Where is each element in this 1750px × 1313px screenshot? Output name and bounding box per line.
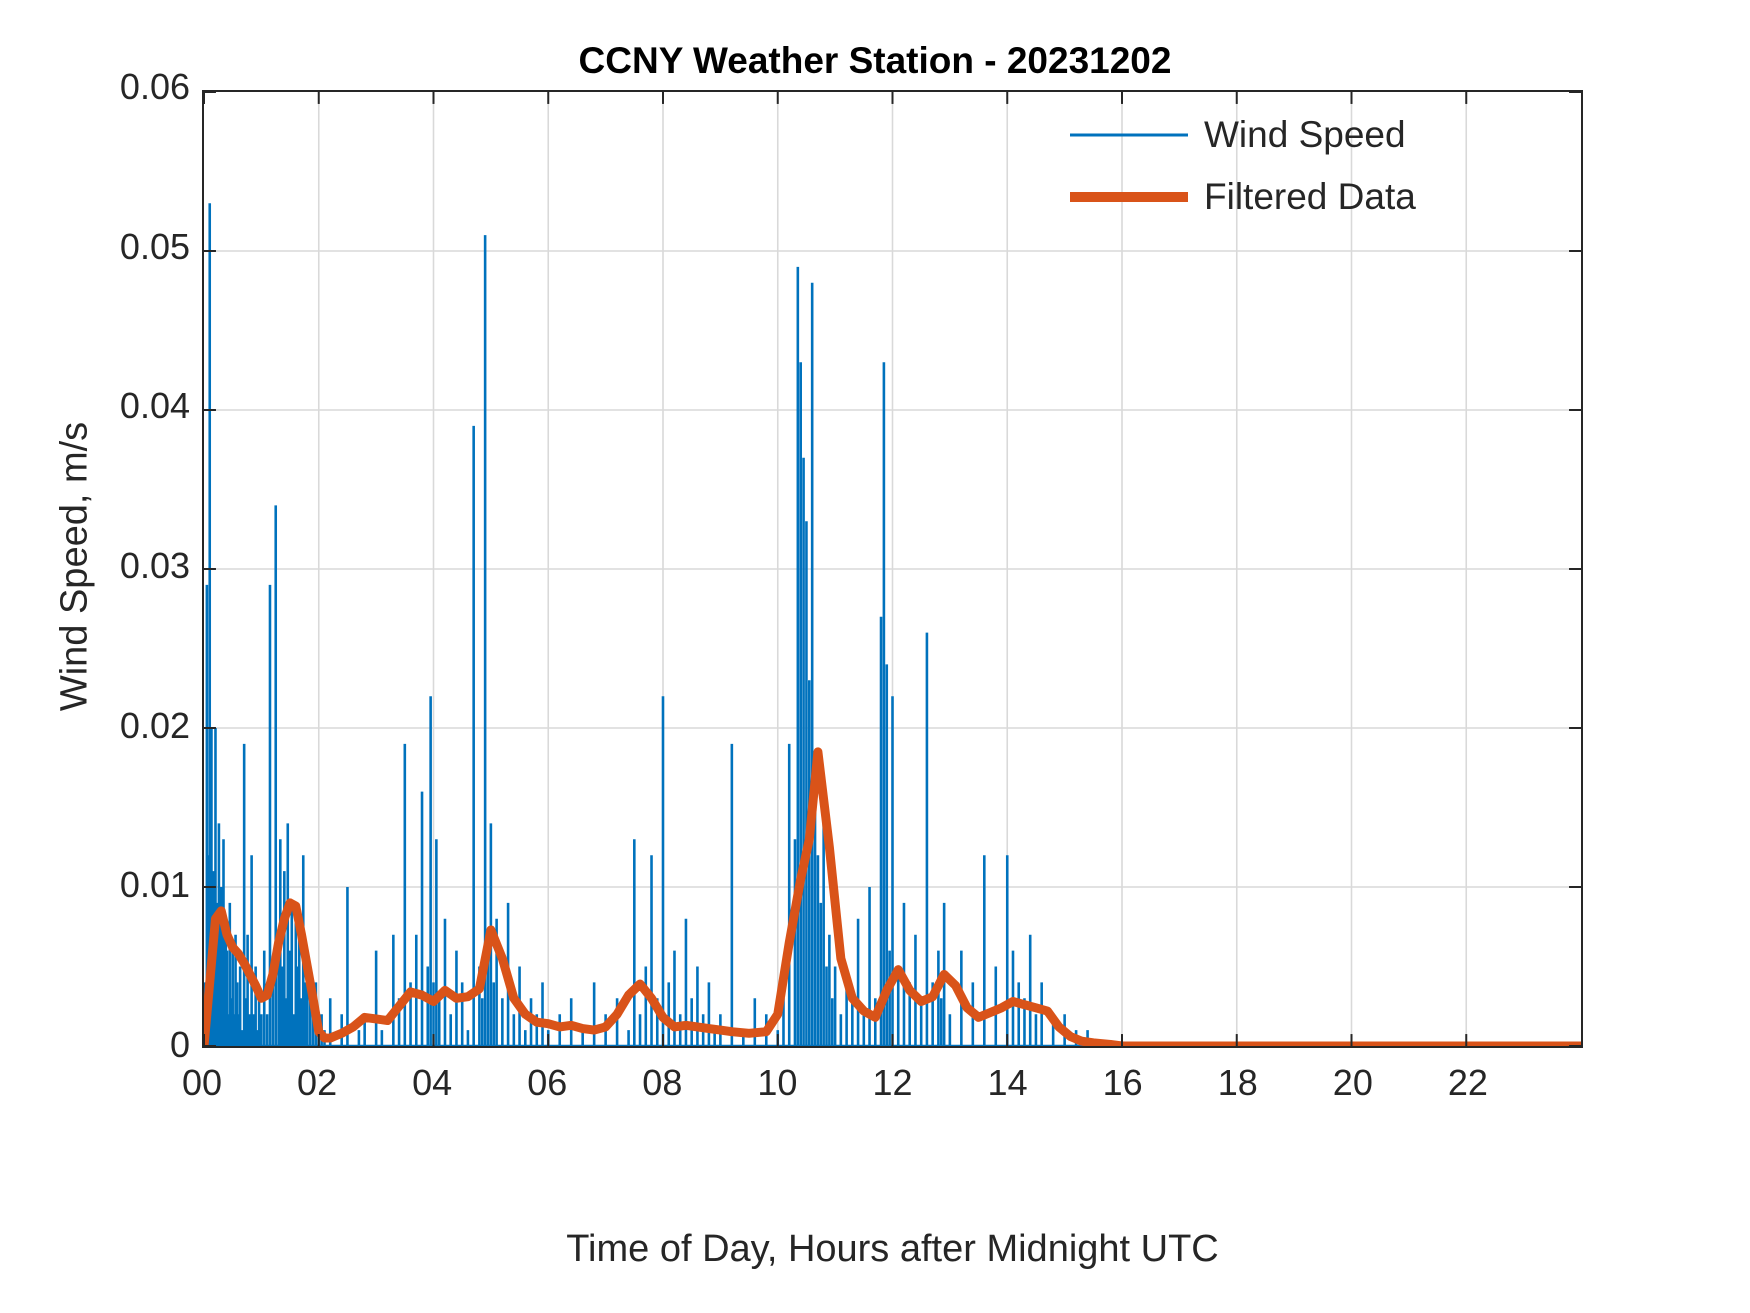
x-tick-label: 00 xyxy=(142,1062,262,1104)
x-tick-label: 12 xyxy=(833,1062,953,1104)
page-title: CCNY Weather Station - 20231202 xyxy=(0,40,1750,82)
legend-label-filtered-data: Filtered Data xyxy=(1204,176,1416,218)
matlab-figure: CCNY Weather Station - 20231202 00.010.0… xyxy=(0,0,1750,1313)
y-tick-label: 0.05 xyxy=(20,226,190,268)
y-tick-label: 0.03 xyxy=(20,545,190,587)
x-axis-label: Time of Day, Hours after Midnight UTC xyxy=(202,1228,1583,1271)
x-tick-label: 20 xyxy=(1293,1062,1413,1104)
x-tick-label: 04 xyxy=(372,1062,492,1104)
x-tick-label: 02 xyxy=(257,1062,377,1104)
y-tick-label: 0 xyxy=(20,1024,190,1066)
y-tick-label: 0.06 xyxy=(20,66,190,108)
y-tick-label: 0.04 xyxy=(20,385,190,427)
x-tick-label: 18 xyxy=(1178,1062,1298,1104)
y-axis-label: Wind Speed, m/s xyxy=(54,217,97,917)
x-tick-label: 16 xyxy=(1063,1062,1183,1104)
y-tick-label: 0.02 xyxy=(20,705,190,747)
legend-item-filtered-data[interactable]: Filtered Data xyxy=(1070,172,1470,222)
legend-swatch-filtered-data xyxy=(1070,186,1188,208)
x-tick-label: 06 xyxy=(487,1062,607,1104)
x-tick-label: 22 xyxy=(1408,1062,1528,1104)
legend: Wind Speed Filtered Data xyxy=(1070,110,1470,222)
plot-area xyxy=(202,90,1583,1048)
x-tick-label: 08 xyxy=(602,1062,722,1104)
legend-swatch-wind-speed xyxy=(1070,124,1188,146)
x-tick-label: 10 xyxy=(717,1062,837,1104)
plot-canvas xyxy=(204,92,1581,1046)
legend-item-wind-speed[interactable]: Wind Speed xyxy=(1070,110,1470,160)
x-tick-label: 14 xyxy=(948,1062,1068,1104)
x-axis-tick-labels: 000204060810121416182022 xyxy=(0,1062,1750,1122)
series-wind-speed xyxy=(204,203,1111,1046)
y-tick-label: 0.01 xyxy=(20,864,190,906)
legend-label-wind-speed: Wind Speed xyxy=(1204,114,1406,156)
